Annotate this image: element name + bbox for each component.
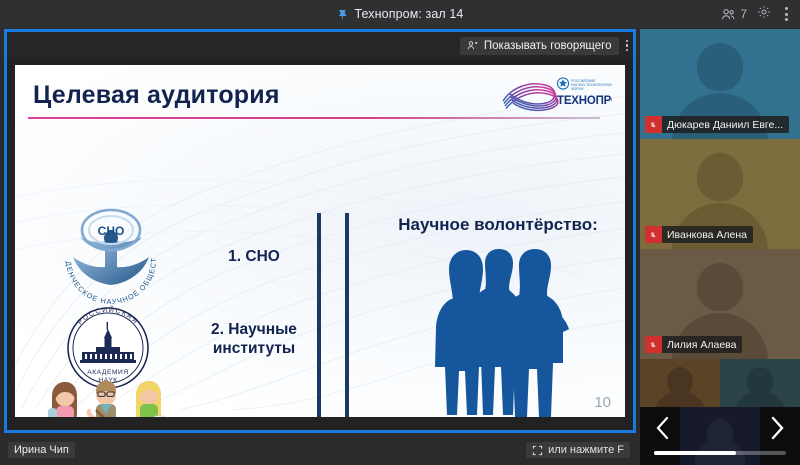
chevron-left-icon[interactable] — [650, 411, 676, 445]
top-bar: Технопром: зал 14 7 — [0, 0, 800, 28]
participant-name-chip: Лилия Алаева — [645, 336, 742, 353]
list-item: 2. Научные институты — [185, 321, 323, 359]
fullscreen-icon — [532, 445, 543, 456]
slide-title: Целевая аудитория — [33, 81, 280, 110]
top-bar-actions: 7 — [721, 0, 792, 28]
participant-name-chip: Дюкарев Даниил Евге... — [645, 116, 789, 133]
vertical-divider-left — [317, 213, 321, 417]
participant-name: Лилия Алаева — [662, 337, 742, 353]
participants-icon — [721, 8, 736, 21]
participants-count: 7 — [740, 7, 747, 21]
avatar — [697, 263, 743, 311]
video-conference-window: Технопром: зал 14 7 — [0, 0, 800, 465]
technoprom-logo: РОССИЙСКИЙ НАУЧНО-ТЕХНОЛОГИЧЕСКИЙ ФОРУМ … — [500, 74, 612, 114]
participant-name-chip: Иванкова Алена — [645, 226, 753, 243]
sno-emblem: СНО СТУДЕНЧЕСКОЕ НАУЧНОЕ ОБЩЕСТВО — [50, 199, 172, 311]
presenter-bar: Ирина Чип или нажмите F — [4, 436, 636, 465]
participant-tile[interactable]: Лилия Алаева — [640, 249, 800, 359]
group-silhouette — [419, 247, 585, 417]
mic-off-icon — [645, 226, 662, 243]
fullscreen-hint-label: или нажмите F — [548, 444, 624, 456]
slide-page-number: 10 — [594, 394, 611, 411]
svg-text:ТЕХНОПРОМ: ТЕХНОПРОМ — [557, 95, 612, 107]
shared-screen-toolbar: Показывать говорящего — [7, 32, 633, 59]
svg-text:ФОРУМ: ФОРУМ — [571, 87, 584, 91]
students-illustration — [26, 370, 186, 417]
gear-icon[interactable] — [757, 5, 771, 24]
chevron-right-icon[interactable] — [764, 411, 790, 445]
participant-tile[interactable]: Иванкова Алена — [640, 139, 800, 249]
room-title-group: Технопром: зал 14 — [0, 0, 800, 28]
participant-name: Иванкова Алена — [662, 227, 753, 243]
volunteering-heading: Научное волонтёрство: — [367, 215, 625, 235]
participant-name: Дюкарев Даниил Евге... — [662, 117, 789, 133]
participant-tile[interactable] — [680, 407, 760, 465]
kebab-menu-icon[interactable] — [781, 4, 792, 24]
filmstrip-scrollbar[interactable] — [654, 451, 786, 455]
speaker-view-icon — [467, 40, 479, 51]
pin-icon — [337, 8, 349, 20]
presenter-name-label: Ирина Чип — [8, 442, 75, 458]
shared-screen-kebab-icon[interactable] — [621, 36, 634, 56]
participant-tile[interactable]: Дюкарев Даниил Евге... — [640, 29, 800, 139]
presentation-slide: Целевая аудитория — [15, 65, 625, 417]
svg-text:СНО: СНО — [98, 224, 125, 238]
shared-screen-frame: Показывать говорящего — [4, 29, 636, 433]
mic-off-icon — [645, 116, 662, 133]
mic-off-icon — [645, 336, 662, 353]
room-title: Технопром: зал 14 — [355, 7, 464, 21]
vertical-divider-right — [345, 213, 349, 417]
participants-button[interactable]: 7 — [721, 7, 747, 21]
fullscreen-hint[interactable]: или нажмите F — [526, 442, 630, 458]
avatar — [697, 153, 743, 201]
title-underline — [28, 117, 600, 119]
list-item: 1. СНО — [193, 248, 315, 267]
show-speaker-button[interactable]: Показывать говорящего — [460, 37, 619, 55]
avatar — [697, 43, 743, 91]
participants-filmstrip: Дюкарев Даниил Евге... Иванкова Алена — [640, 29, 800, 465]
show-speaker-label: Показывать говорящего — [484, 40, 612, 52]
